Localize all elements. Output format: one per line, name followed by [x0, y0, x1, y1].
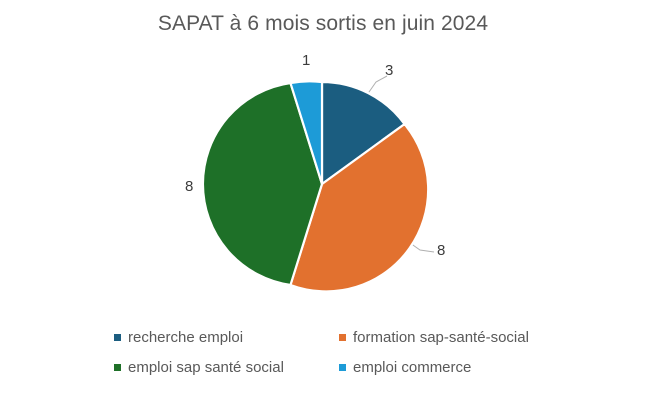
legend-row-2: emploi sap santé social emploi commerce — [0, 352, 646, 382]
data-label-recherche-emploi: 3 — [385, 62, 393, 79]
legend-swatch-icon-recherche-emploi — [114, 334, 121, 341]
legend-item-emploi-sap[interactable]: emploi sap santé social — [114, 359, 339, 376]
plot-area: 3 8 8 1 — [0, 0, 646, 320]
legend-label-emploi-commerce: emploi commerce — [353, 359, 471, 376]
legend-item-formation[interactable]: formation sap-santé-social — [339, 329, 529, 346]
legend-row-1: recherche emploi formation sap-santé-soc… — [0, 322, 646, 352]
legend-swatch-icon-emploi-sap — [114, 364, 121, 371]
legend-label-formation: formation sap-santé-social — [353, 329, 529, 346]
pie-svg — [0, 0, 646, 320]
legend-swatch-icon-emploi-commerce — [339, 364, 346, 371]
data-label-emploi-sap: 8 — [185, 178, 193, 195]
chart-legend: recherche emploi formation sap-santé-soc… — [0, 322, 646, 382]
legend-item-recherche-emploi[interactable]: recherche emploi — [114, 329, 339, 346]
legend-label-recherche-emploi: recherche emploi — [128, 329, 243, 346]
pie-chart-figure: SAPAT à 6 mois sortis en juin 2024 3 8 8… — [0, 0, 646, 400]
data-label-formation: 8 — [437, 242, 445, 259]
legend-item-emploi-commerce[interactable]: emploi commerce — [339, 359, 471, 376]
legend-label-emploi-sap: emploi sap santé social — [128, 359, 284, 376]
legend-swatch-icon-formation — [339, 334, 346, 341]
data-label-emploi-commerce: 1 — [302, 52, 310, 69]
